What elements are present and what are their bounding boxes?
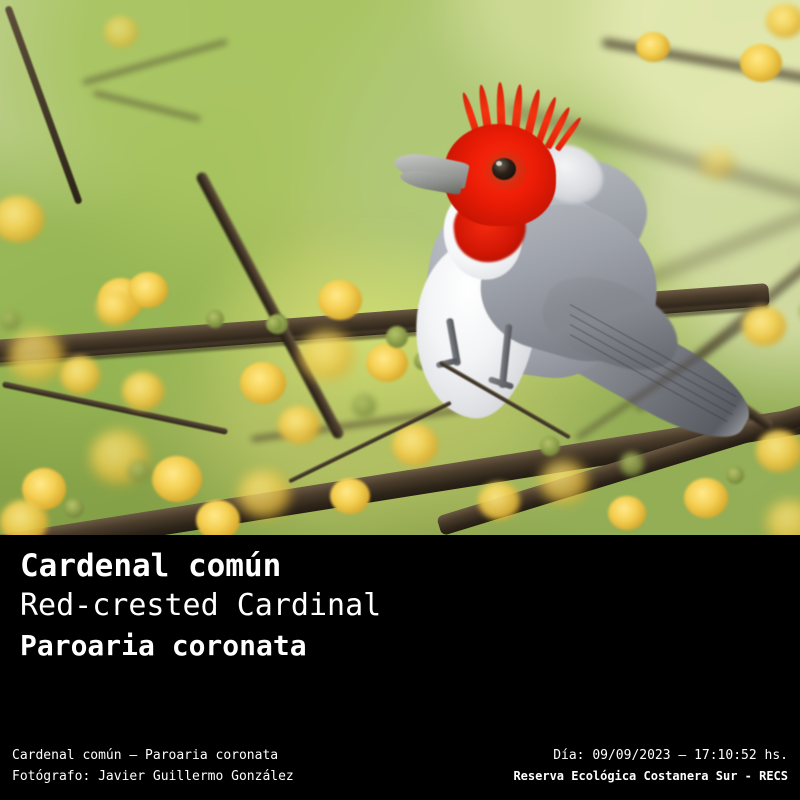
flower-bud (352, 394, 376, 418)
flower-bud (206, 310, 224, 328)
english-name-subtitle: Red-crested Cardinal (20, 589, 381, 622)
common-name-title: Cardenal común (20, 549, 281, 583)
flower (240, 362, 286, 404)
flower (152, 456, 202, 502)
flower (684, 478, 728, 518)
photo-caption-card: Cardenal común Red-crested Cardinal Paro… (0, 0, 800, 800)
flower-bud (0, 310, 20, 330)
flower (128, 272, 168, 308)
flower-bud (64, 498, 84, 518)
flower (104, 16, 138, 48)
flower (740, 44, 782, 82)
bird-eye-highlight (496, 161, 502, 166)
flower (636, 32, 670, 62)
footer-species-label: Cardenal común — Paroaria coronata (12, 748, 278, 763)
flower (8, 330, 64, 382)
flower (756, 430, 800, 472)
red-crested-cardinal (392, 88, 752, 448)
flower (238, 470, 290, 518)
flower (608, 496, 646, 530)
flower (300, 330, 354, 380)
footer-photographer-label: Fotógrafo: Javier Guillermo González (12, 769, 294, 784)
flower-bud (266, 316, 282, 332)
flower (478, 482, 520, 520)
flower (330, 478, 370, 514)
flower (60, 356, 100, 394)
flower (122, 372, 164, 410)
bird-photograph (0, 0, 800, 535)
flower (196, 500, 240, 535)
flower (278, 406, 320, 444)
flower-bud (128, 460, 150, 482)
flower (766, 4, 800, 38)
flower (318, 280, 362, 320)
footer-datetime-label: Día: 09/09/2023 — 17:10:52 hs. (553, 748, 788, 763)
footer-location-label: Reserva Ecológica Costanera Sur - RECS (513, 769, 788, 783)
flower-bud (726, 466, 744, 484)
flower (540, 460, 588, 504)
scientific-name-title: Paroaria coronata (20, 630, 307, 661)
footer-bar: Cardenal común — Paroaria coronata Fotóg… (0, 745, 800, 800)
flower-bud (620, 452, 644, 476)
